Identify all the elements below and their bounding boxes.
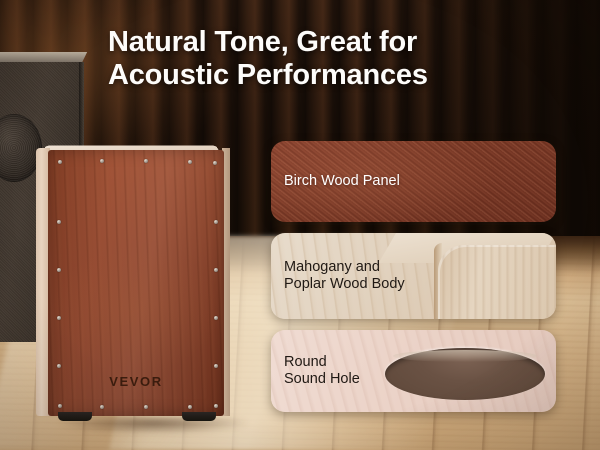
cajon-feet: [58, 412, 216, 422]
cajon-foot: [182, 412, 216, 421]
feature-card-round-sound-hole: Round Sound Hole: [271, 330, 556, 412]
screw: [100, 405, 104, 409]
feature-label-body-line-2: Poplar Wood Body: [284, 276, 405, 292]
feature-label-birch: Birch Wood Panel: [271, 173, 400, 190]
feature-label-body-line-1: Mahogany and: [284, 259, 380, 275]
vevor-brand-logo: VEVOR: [48, 374, 224, 389]
screw: [58, 160, 62, 164]
screw: [214, 316, 218, 320]
screw: [213, 161, 217, 165]
screw: [188, 160, 192, 164]
screw: [214, 220, 218, 224]
cajon-foot: [58, 412, 92, 421]
feature-label-hole-line-1: Round: [284, 354, 327, 370]
feature-card-mahogany-poplar-body: Mahogany and Poplar Wood Body: [271, 233, 556, 319]
screw: [57, 268, 61, 272]
plywood-rounded-face: [438, 245, 556, 319]
screw: [57, 364, 61, 368]
screw: [214, 404, 218, 408]
title-line-2: Acoustic Performances: [108, 59, 528, 92]
screw: [57, 316, 61, 320]
feature-label-body: Mahogany and Poplar Wood Body: [271, 259, 405, 293]
cajon-drum: VEVOR: [36, 136, 236, 426]
feature-label-hole: Round Sound Hole: [271, 354, 360, 388]
plywood-corner-detail: [396, 233, 556, 319]
screw: [58, 404, 62, 408]
title-line-1: Natural Tone, Great for: [108, 26, 417, 58]
screw: [214, 364, 218, 368]
cajon-front-panel: VEVOR: [48, 150, 224, 416]
sound-hole-ellipse: [385, 348, 545, 400]
screw: [144, 159, 148, 163]
screw: [214, 268, 218, 272]
feature-label-hole-line-2: Sound Hole: [284, 371, 360, 387]
screw: [188, 405, 192, 409]
screw: [144, 405, 148, 409]
feature-card-birch-wood-panel: Birch Wood Panel: [271, 141, 556, 222]
screw: [57, 220, 61, 224]
screw: [100, 159, 104, 163]
promo-banner: VEVOR Natural Tone, Great for Acoustic P…: [0, 0, 600, 450]
page-title: Natural Tone, Great for Acoustic Perform…: [108, 26, 528, 92]
